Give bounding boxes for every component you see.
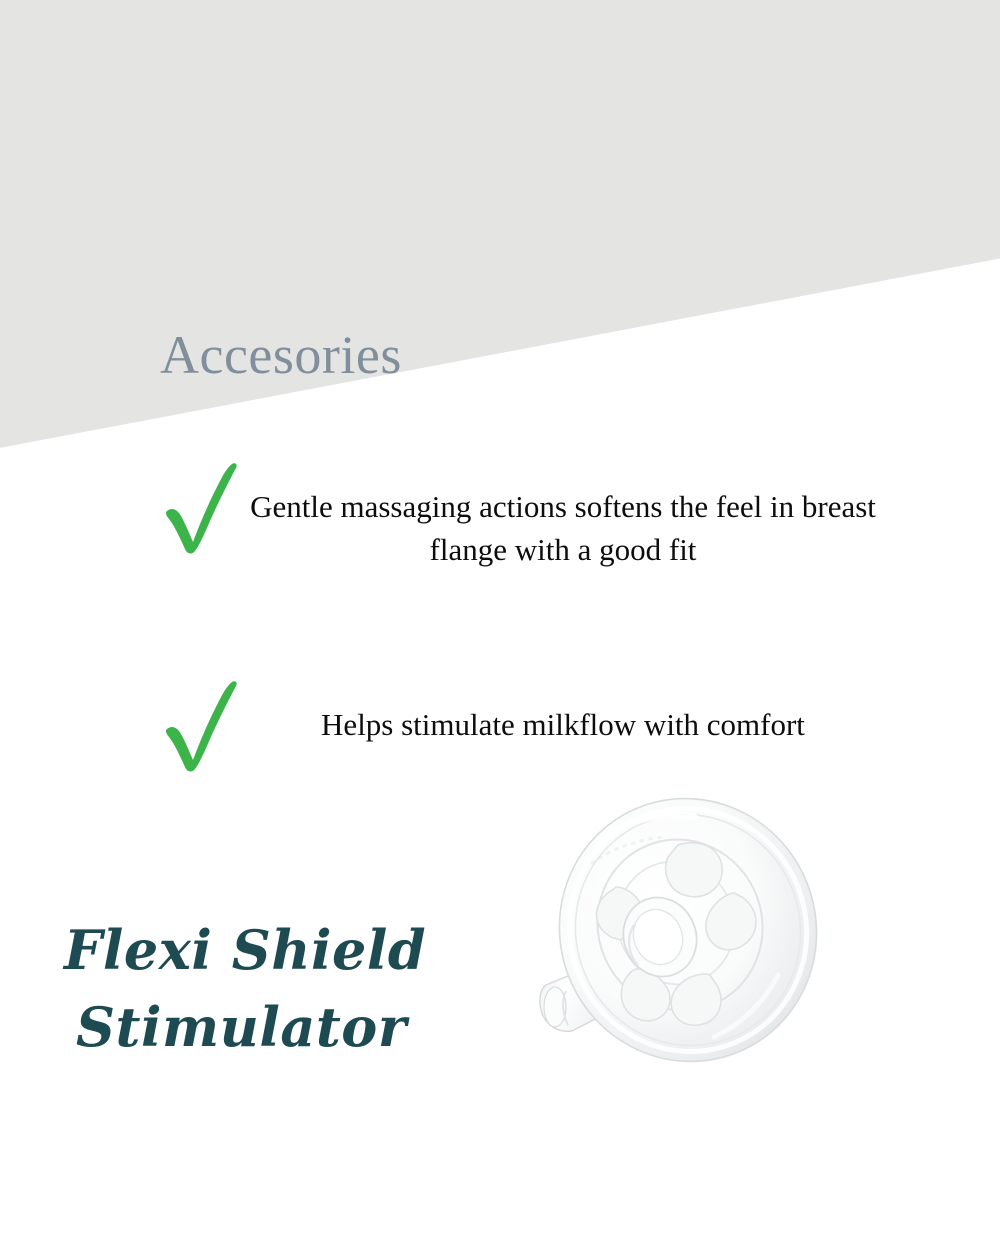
green-check-icon <box>162 677 240 772</box>
list-item-label: Gentle massaging actions softens the fee… <box>248 486 878 572</box>
page-title: Accesories <box>160 327 402 384</box>
list-item-label: Helps stimulate milkflow with comfort <box>248 704 878 747</box>
list-item: Helps stimulate milkflow with comfort <box>0 673 1000 778</box>
green-check-icon <box>162 459 240 554</box>
accessories-product-page: Accesories Gentle massaging actions soft… <box>0 0 1000 1250</box>
list-item: Gentle massaging actions softens the fee… <box>0 455 1000 603</box>
benefits-list: Gentle massaging actions softens the fee… <box>0 455 1000 847</box>
brand-lockup: Flexi Shield Stimulator <box>58 912 478 1065</box>
brand-line-2: Stimulator <box>58 989 478 1066</box>
header-diagonal-band <box>0 0 1000 470</box>
brand-line-1: Flexi Shield <box>58 912 478 989</box>
product-image <box>528 785 828 1085</box>
